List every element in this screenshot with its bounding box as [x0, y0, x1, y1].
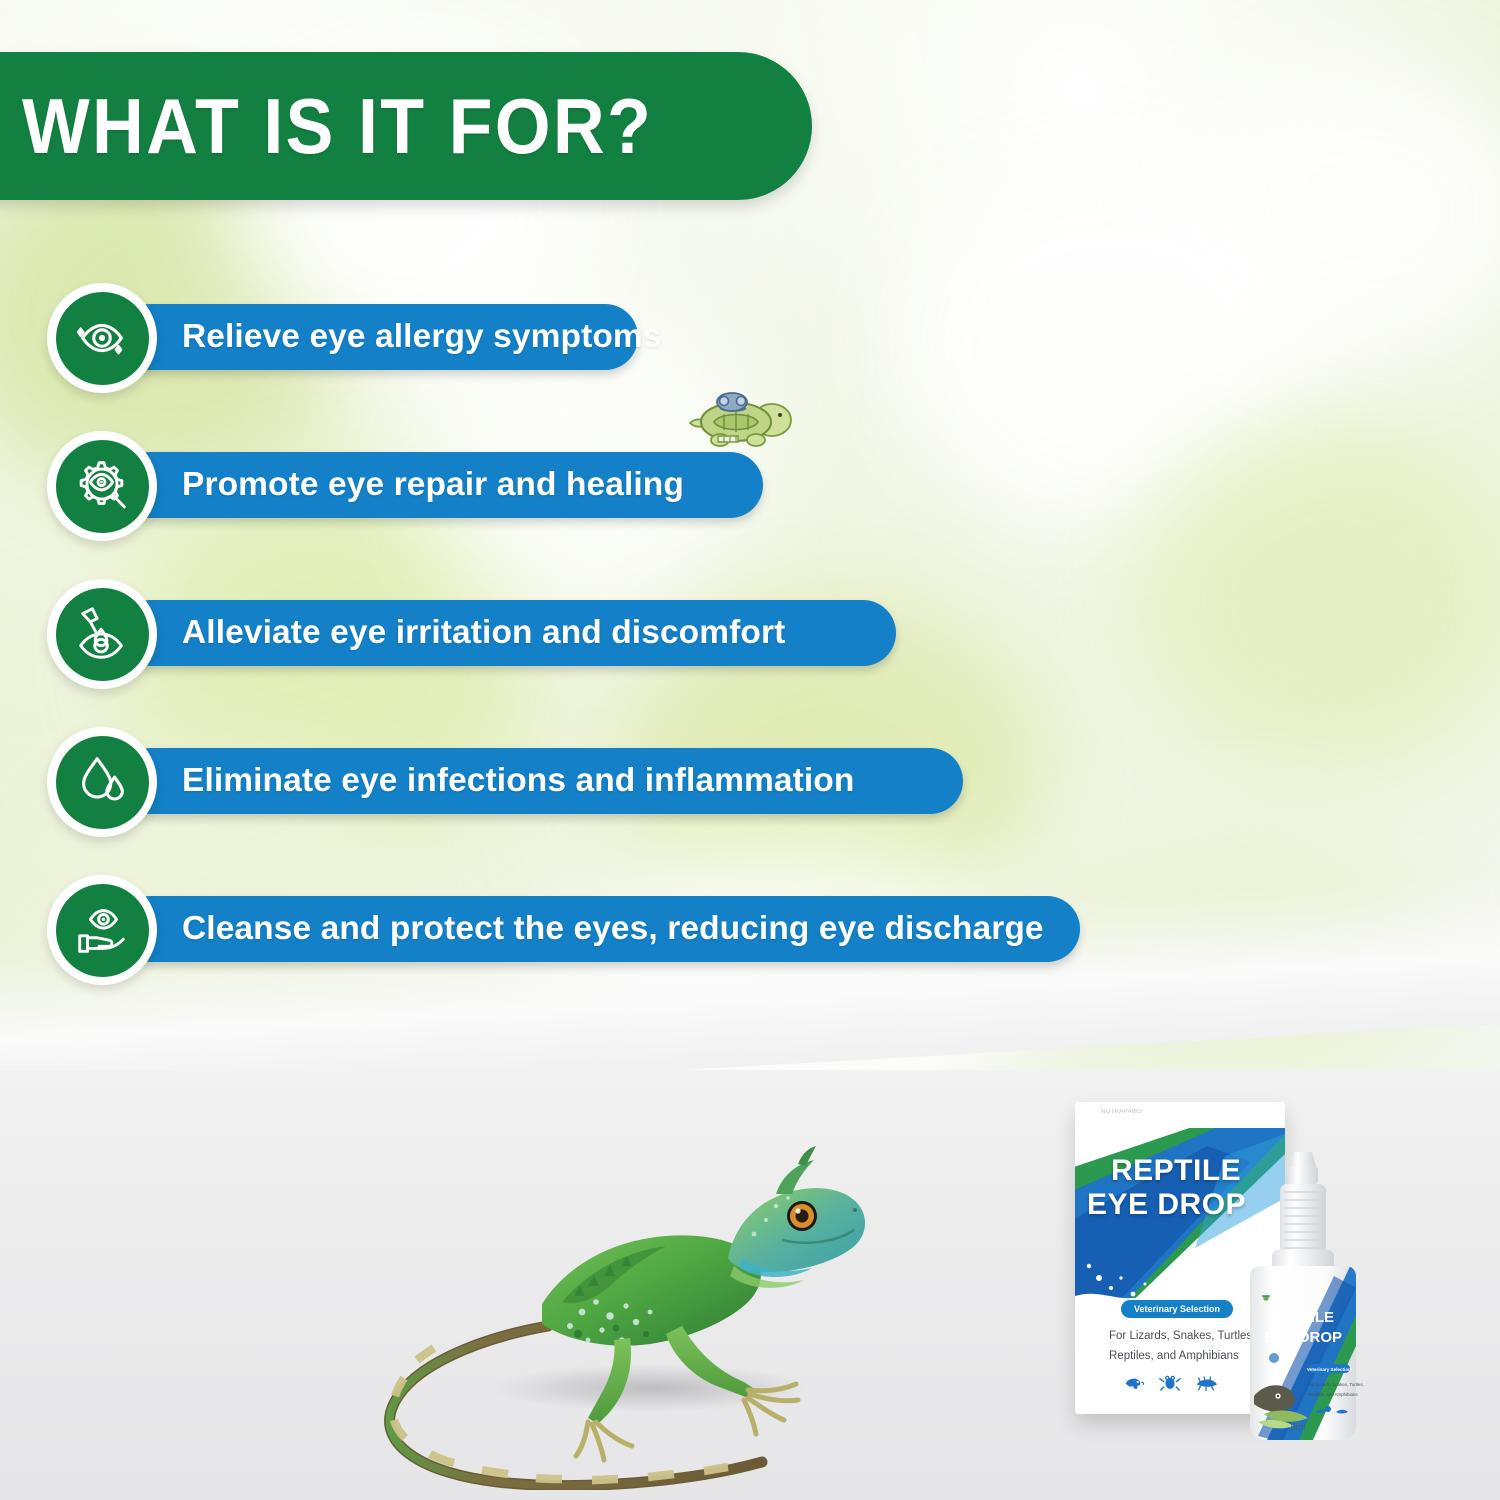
feature-label: Promote eye repair and healing [182, 466, 714, 504]
dropper-eye-icon [56, 588, 149, 681]
feature-icon-badge [47, 727, 157, 837]
box-product-name: REPTILE EYE DROP [1111, 1154, 1246, 1221]
veterinary-selection-badge: Veterinary Selection [1121, 1300, 1233, 1318]
feature-icon-badge [47, 875, 157, 985]
feature-pill: Relieve eye allergy symptoms [118, 304, 638, 370]
svg-text:EYE DROP: EYE DROP [1264, 1329, 1342, 1346]
box-subtitle: For Lizards, Snakes, Turtles, Reptiles, … [1109, 1326, 1255, 1366]
header-banner: WHAT IS IT FOR? [0, 52, 812, 200]
svg-text:Reptiles, and Amphibians: Reptiles, and Amphibians [1308, 1392, 1358, 1397]
eye-sparkle-icon [56, 292, 149, 385]
svg-text:For Lizards, Snakes, Turtles,: For Lizards, Snakes, Turtles, [1308, 1382, 1364, 1387]
water-drops-icon [56, 736, 149, 829]
page-title: WHAT IS IT FOR? [22, 87, 653, 165]
feature-pill: Eliminate eye infections and inflammatio… [118, 748, 963, 814]
svg-text:Veterinary Selection: Veterinary Selection [1307, 1367, 1351, 1372]
brand-logo: NUTRAPAWS [1101, 1109, 1142, 1115]
hand-eye-icon [56, 884, 149, 977]
box-subtitle-line2: Reptiles, and Amphibians [1109, 1346, 1255, 1366]
svg-text:REPTILE: REPTILE [1271, 1309, 1334, 1326]
product-bottle: REPTILE EYE DROP Veterinary Selection Fo… [1238, 1146, 1368, 1446]
feature-pill: Alleviate eye irritation and discomfort [118, 600, 896, 666]
feature-row: Alleviate eye irritation and discomfort [0, 579, 1500, 727]
gecko-icon [1195, 1374, 1217, 1391]
box-animal-icons [1123, 1374, 1217, 1391]
cartoon-turtle-icon [684, 388, 802, 450]
green-basilisk-lizard [330, 1090, 950, 1490]
feature-pill: Promote eye repair and healing [118, 452, 763, 518]
gear-eye-search-icon [56, 440, 149, 533]
feature-icon-badge [47, 283, 157, 393]
feature-label: Relieve eye allergy symptoms [182, 318, 692, 356]
chameleon-icon [1123, 1374, 1145, 1391]
feature-label: Eliminate eye infections and inflammatio… [182, 762, 884, 800]
feature-label: Alleviate eye irritation and discomfort [182, 614, 815, 652]
frog-icon [1159, 1374, 1181, 1391]
product-group: NUTRAPAWS REPTILE [1060, 1090, 1400, 1470]
feature-row: Promote eye repair and healing [0, 431, 1500, 579]
box-top-band: NUTRAPAWS [1075, 1102, 1285, 1128]
feature-row: Cleanse and protect the eyes, reducing e… [0, 875, 1500, 1023]
feature-icon-badge [47, 579, 157, 689]
product-feature-image: WHAT IS IT FOR? Relieve eye allergy symp… [0, 0, 1500, 1500]
feature-label: Cleanse and protect the eyes, reducing e… [182, 910, 1074, 948]
box-subtitle-line1: For Lizards, Snakes, Turtles, [1109, 1326, 1255, 1346]
feature-icon-badge [47, 431, 157, 541]
feature-row: Eliminate eye infections and inflammatio… [0, 727, 1500, 875]
bottle-volume: 5ml [1291, 1422, 1306, 1432]
feature-pill: Cleanse and protect the eyes, reducing e… [118, 896, 1080, 962]
